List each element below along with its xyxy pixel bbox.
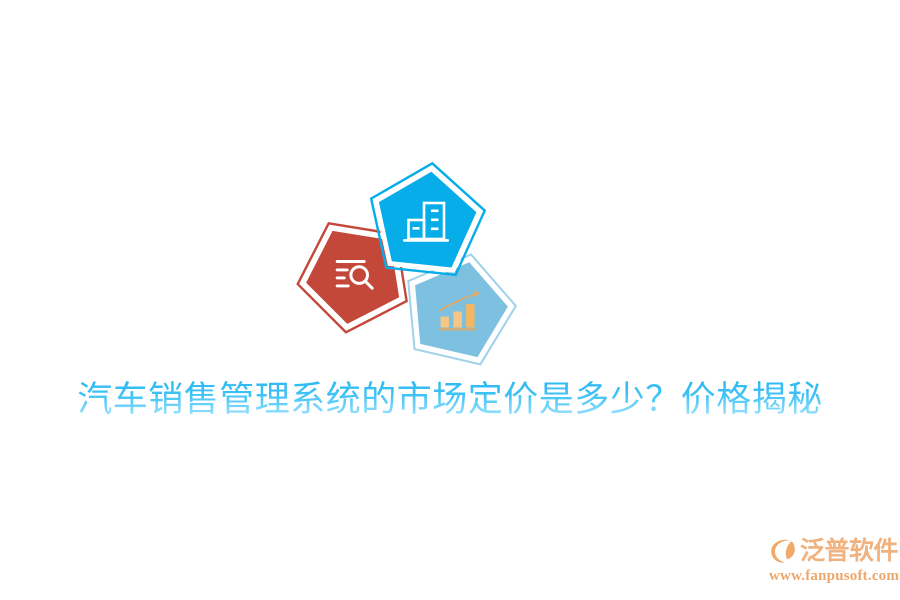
hero-graphic [283,148,543,373]
fanpu-swoosh-logo-icon [768,536,798,566]
watermark-url-text: www.fanpusoft.com [768,567,894,585]
watermark-brand-row: 泛普软件 [768,534,894,568]
watermark-brand-text: 泛普软件 [800,536,898,566]
page-title: 汽车销售管理系统的市场定价是多少？价格揭秘 [0,378,900,422]
watermark-logo: 泛普软件 www.fanpusoft.com [768,534,894,590]
page-canvas: 汽车销售管理系统的市场定价是多少？价格揭秘 泛普软件 www.fanpusoft… [0,0,900,600]
pentagon-cluster-svg [283,148,543,373]
